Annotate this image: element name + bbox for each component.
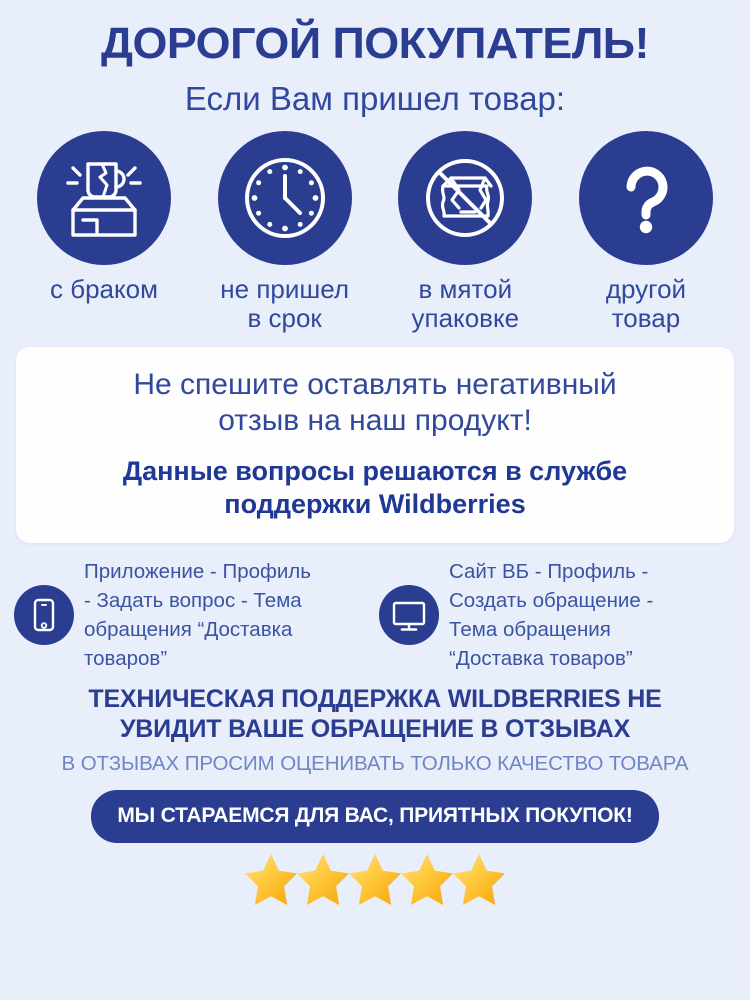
problem-label-line2: упаковке <box>412 304 520 333</box>
problem-label-crumpled: в мятой упаковке <box>412 275 520 333</box>
howto-site-line3: Тема обращения <box>449 615 653 644</box>
problem-label-line1: с браком <box>50 275 158 304</box>
howto-site-line4: “Доставка товаров” <box>449 644 653 673</box>
advice-message-line1: Не спешите оставлять негативный <box>34 367 716 403</box>
problem-label-defective: с браком <box>50 275 158 304</box>
monitor-icon <box>379 585 439 645</box>
howto-app-column: Приложение - Профиль - Задать вопрос - Т… <box>14 557 375 673</box>
advice-support-note: Данные вопросы решаются в службе поддерж… <box>34 455 716 521</box>
problem-label-line1: другой <box>606 275 686 304</box>
howto-site-line1: Сайт ВБ - Профиль - <box>449 557 653 586</box>
problem-label-late: не пришел в срок <box>220 275 349 333</box>
advice-support-line1: Данные вопросы решаются в службе <box>34 455 716 488</box>
smartphone-icon <box>14 585 74 645</box>
cta-button[interactable]: МЫ СТАРАЕМСЯ ДЛЯ ВАС, ПРИЯТНЫХ ПОКУПОК! <box>91 790 658 843</box>
promo-banner: ДОРОГОЙ ПОКУПАТЕЛЬ! Если Вам пришел това… <box>0 0 750 1000</box>
howto-section: Приложение - Профиль - Задать вопрос - Т… <box>0 543 750 673</box>
howto-app-line1: Приложение - Профиль <box>84 557 311 586</box>
cta-row: МЫ СТАРАЕМСЯ ДЛЯ ВАС, ПРИЯТНЫХ ПОКУПОК! <box>8 790 742 843</box>
problem-label-line2: в срок <box>220 304 349 333</box>
problem-label-line2: товар <box>606 304 686 333</box>
review-quality-note: В ОТЗЫВАХ ПРОСИМ ОЦЕНИВАТЬ ТОЛЬКО КАЧЕСТ… <box>8 752 742 776</box>
star-icon[interactable] <box>450 851 508 907</box>
page-subtitle: Если Вам пришел товар: <box>0 82 750 115</box>
page-title: ДОРОГОЙ ПОКУПАТЕЛЬ! <box>0 0 750 66</box>
star-icon[interactable] <box>346 851 404 907</box>
clock-icon <box>218 131 352 265</box>
problem-item-late: не пришел в срок <box>199 131 371 333</box>
howto-app-text: Приложение - Профиль - Задать вопрос - Т… <box>84 557 311 673</box>
howto-app-line3: обращения “Доставка <box>84 615 311 644</box>
question-mark-icon <box>579 131 713 265</box>
howto-site-column: Сайт ВБ - Профиль - Создать обращение - … <box>379 557 740 673</box>
problem-item-crumpled: в мятой упаковке <box>379 131 551 333</box>
howto-site-line2: Создать обращение - <box>449 586 653 615</box>
support-warning-line2: УВИДИТ ВАШЕ ОБРАЩЕНИЕ В ОТЗЫВАХ <box>8 714 742 744</box>
advice-support-line2: поддержки Wildberries <box>34 488 716 521</box>
problem-item-wrong: другой товар <box>560 131 732 333</box>
howto-app-line4: товаров” <box>84 644 311 673</box>
howto-site-text: Сайт ВБ - Профиль - Создать обращение - … <box>449 557 653 673</box>
no-crumpled-package-icon <box>398 131 532 265</box>
star-icon[interactable] <box>398 851 456 907</box>
star-icon[interactable] <box>242 851 300 907</box>
broken-item-in-box-icon <box>37 131 171 265</box>
problem-item-defective: с браком <box>18 131 190 304</box>
star-icon[interactable] <box>294 851 352 907</box>
advice-message: Не спешите оставлять негативный отзыв на… <box>34 367 716 439</box>
problem-icon-row: с браком <box>0 115 750 333</box>
support-warning-heading: ТЕХНИЧЕСКАЯ ПОДДЕРЖКА WILDBERRIES НЕ УВИ… <box>8 684 742 744</box>
advice-message-line2: отзыв на наш продукт! <box>34 403 716 439</box>
howto-app-line2: - Задать вопрос - Тема <box>84 586 311 615</box>
bottom-section: ТЕХНИЧЕСКАЯ ПОДДЕРЖКА WILDBERRIES НЕ УВИ… <box>0 674 750 907</box>
problem-label-wrong: другой товар <box>606 275 686 333</box>
advice-card: Не спешите оставлять негативный отзыв на… <box>16 347 734 543</box>
problem-label-line1: не пришел <box>220 275 349 304</box>
star-rating[interactable] <box>8 851 742 907</box>
problem-label-line1: в мятой <box>412 275 520 304</box>
support-warning-line1: ТЕХНИЧЕСКАЯ ПОДДЕРЖКА WILDBERRIES НЕ <box>8 684 742 714</box>
